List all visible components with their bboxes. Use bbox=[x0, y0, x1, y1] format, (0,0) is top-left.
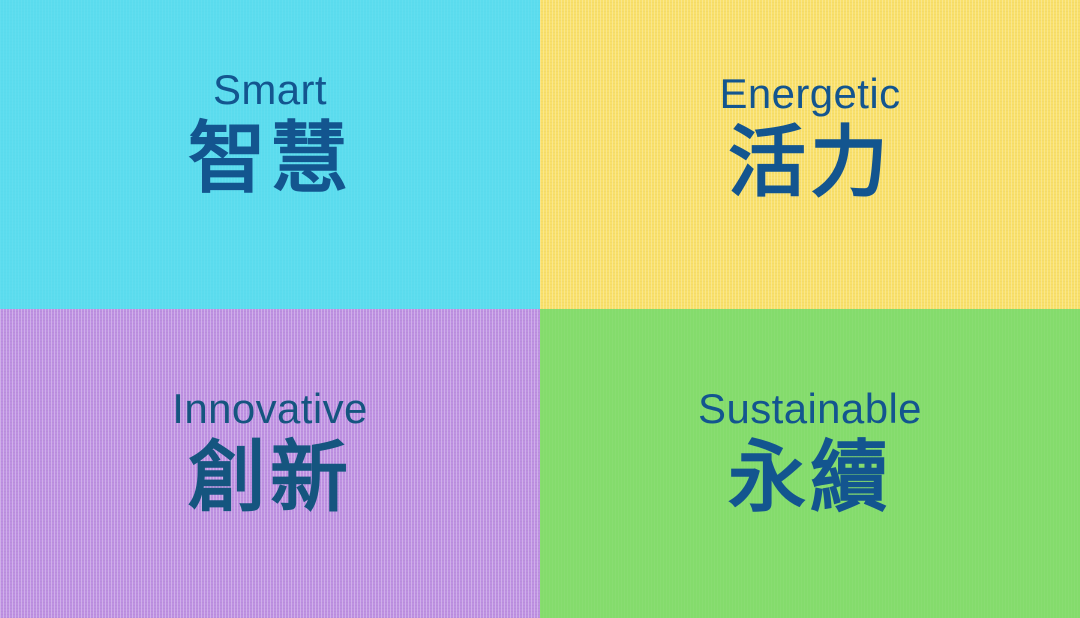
quadrant-innovative-content: Innovative 創新 bbox=[172, 388, 367, 522]
quadrant-smart-label-en: Smart bbox=[213, 69, 327, 112]
quadrant-innovative-label-zh: 創新 bbox=[188, 435, 352, 522]
quadrant-smart-label-zh: 智慧 bbox=[188, 116, 352, 203]
quadrant-innovative: Innovative 創新 bbox=[0, 309, 540, 618]
quadrant-energetic-label-en: Energetic bbox=[719, 73, 900, 116]
quadrant-energetic-content: Energetic 活力 bbox=[719, 73, 900, 207]
quadrant-smart-content: Smart 智慧 bbox=[188, 69, 352, 203]
quadrant-energetic-label-zh: 活力 bbox=[728, 120, 892, 207]
quadrant-sustainable: Sustainable 永續 bbox=[540, 309, 1080, 618]
quadrant-innovative-label-en: Innovative bbox=[172, 388, 367, 431]
quadrant-energetic: Energetic 活力 bbox=[540, 0, 1080, 309]
quadrant-sustainable-label-zh: 永續 bbox=[728, 435, 892, 522]
brand-values-quadrant-board: Smart 智慧 Energetic 活力 Innovative 創新 Sust… bbox=[0, 0, 1080, 618]
quadrant-sustainable-label-en: Sustainable bbox=[698, 388, 922, 431]
quadrant-smart: Smart 智慧 bbox=[0, 0, 540, 309]
quadrant-sustainable-content: Sustainable 永續 bbox=[698, 388, 922, 522]
